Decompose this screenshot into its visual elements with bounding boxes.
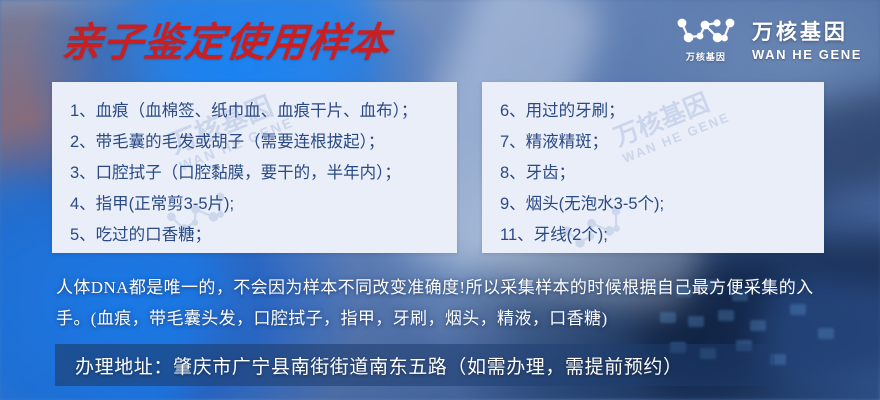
list-item: 7、精液精斑； (500, 127, 824, 158)
list-item: 3、口腔拭子（口腔黏膜，要干的，半年内）； (70, 158, 457, 189)
dna-molecule-icon (674, 14, 738, 48)
brand-mark: 万核基因 (674, 14, 738, 63)
list-item: 11、牙线(2个); (500, 220, 824, 251)
sample-list-panel-left: 万核基因 WAN HE GENE 1、血痕（血棉签、纸巾血、血痕干片、血布）； … (52, 82, 457, 253)
description-paragraph: 人体DNA都是唯一的，不会因为样本不同改变准确度!所以采集样本的时候根据自己最方… (56, 272, 846, 334)
brand-text: 万核基因 WAN HE GENE (752, 16, 862, 62)
list-item: 8、牙齿； (500, 158, 824, 189)
brand-name-en: WAN HE GENE (752, 47, 862, 62)
list-item: 1、血痕（血棉签、纸巾血、血痕干片、血布）； (70, 96, 457, 127)
list-item: 2、带毛囊的毛发或胡子（需要连根拔起）； (70, 127, 457, 158)
brand-mark-label: 万核基因 (686, 50, 726, 63)
sample-list-left: 1、血痕（血棉签、纸巾血、血痕干片、血布）； 2、带毛囊的毛发或胡子（需要连根拔… (52, 82, 457, 251)
list-item: 9、烟头(无泡水3-5个); (500, 189, 824, 220)
address-text: 办理地址：肇庆市广宁县南街街道南东五路（如需办理，需提前预约） (75, 352, 683, 379)
page-title: 亲子鉴定使用样本 (59, 18, 392, 68)
poster-canvas: 亲子鉴定使用样本 (0, 0, 880, 400)
address-bar: 办理地址：肇庆市广宁县南街街道南东五路（如需办理，需提前预约） (55, 344, 775, 386)
sample-list-panel-right: 万核基因 WAN HE GENE 6、用过的牙刷； 7、精液精斑； 8、牙齿； … (482, 82, 824, 253)
brand-logo: 万核基因 万核基因 WAN HE GENE (674, 14, 862, 63)
brand-name-cn: 万核基因 (752, 16, 848, 46)
list-item: 5、吃过的口香糖； (70, 220, 457, 251)
list-item: 6、用过的牙刷； (500, 96, 824, 127)
sample-list-right: 6、用过的牙刷； 7、精液精斑； 8、牙齿； 9、烟头(无泡水3-5个); 11… (482, 82, 824, 251)
list-item: 4、指甲(正常剪3-5片); (70, 189, 457, 220)
